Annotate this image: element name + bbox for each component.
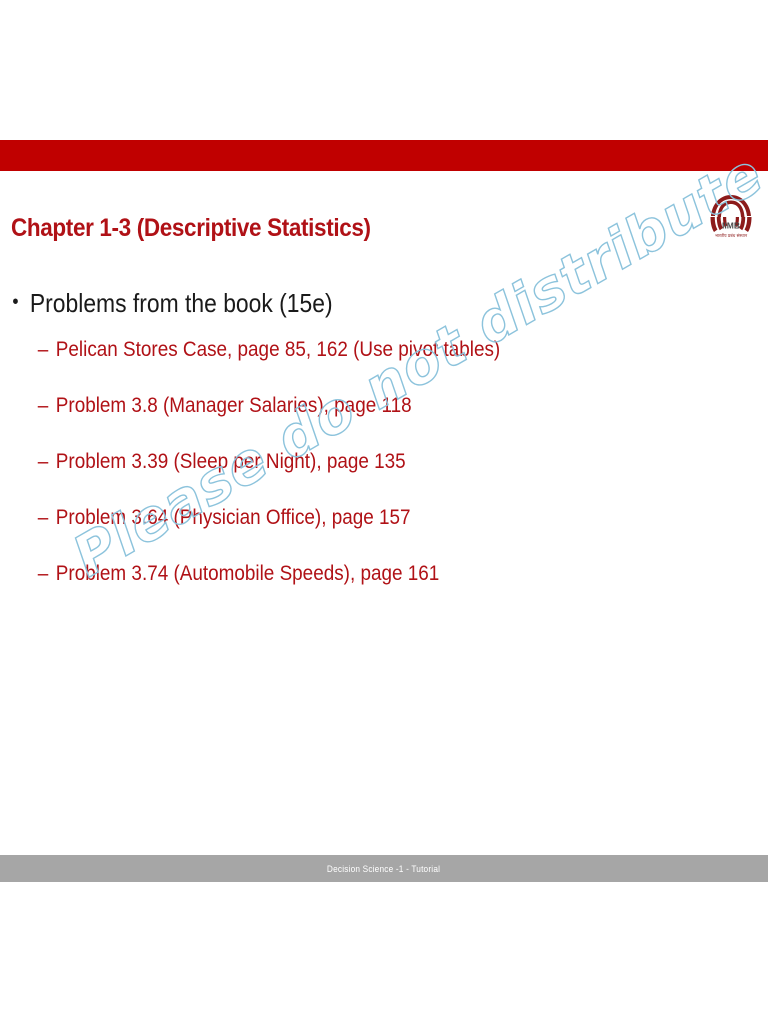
bullet-marker-dot: •	[12, 290, 18, 315]
top-red-band	[0, 140, 768, 171]
iimb-logo-subtext: भारतीय प्रबंध संस्थान	[715, 233, 748, 238]
slide-canvas: IIMB भारतीय प्रबंध संस्थान Chapter 1-3 (…	[0, 140, 768, 882]
bullet-level2: – Problem 3.64 (Physician Office), page …	[0, 507, 691, 529]
bullet-text: Problem 3.39 (Sleep per Night), page 135	[56, 450, 406, 473]
bullet-text: Problem 3.8 (Manager Salaries), page 118	[56, 394, 412, 417]
bullet-level2: – Problem 3.39 (Sleep per Night), page 1…	[0, 451, 691, 473]
bullet-marker-dash: –	[38, 395, 49, 417]
bullet-text: Problem 3.64 (Physician Office), page 15…	[56, 506, 411, 529]
bullet-level2: – Problem 3.74 (Automobile Speeds), page…	[0, 563, 691, 585]
bullet-marker-dash: –	[38, 451, 49, 473]
bullet-text: Pelican Stores Case, page 85, 162 (Use p…	[56, 338, 500, 361]
footer-text: Decision Science -1 - Tutorial	[327, 864, 440, 874]
iimb-logo-acronym: IIMB	[722, 221, 740, 231]
bullet-marker-dash: –	[38, 507, 49, 529]
slide-page: IIMB भारतीय प्रबंध संस्थान Chapter 1-3 (…	[0, 0, 768, 1024]
bullet-level2: – Pelican Stores Case, page 85, 162 (Use…	[0, 339, 691, 361]
slide-body: • Problems from the book (15e) – Pelican…	[0, 290, 768, 620]
bullet-marker-dash: –	[38, 339, 49, 361]
bullet-level1: • Problems from the book (15e)	[0, 290, 676, 317]
bullet-level2: – Problem 3.8 (Manager Salaries), page 1…	[0, 395, 691, 417]
bullet-marker-dash: –	[38, 563, 49, 585]
bullet-text: Problems from the book (15e)	[30, 288, 333, 318]
page-title: Chapter 1-3 (Descriptive Statistics)	[11, 214, 587, 243]
bullet-text: Problem 3.74 (Automobile Speeds), page 1…	[56, 562, 439, 585]
footer-bar: Decision Science -1 - Tutorial	[0, 855, 768, 882]
iimb-logo: IIMB भारतीय प्रबंध संस्थान	[703, 192, 759, 242]
